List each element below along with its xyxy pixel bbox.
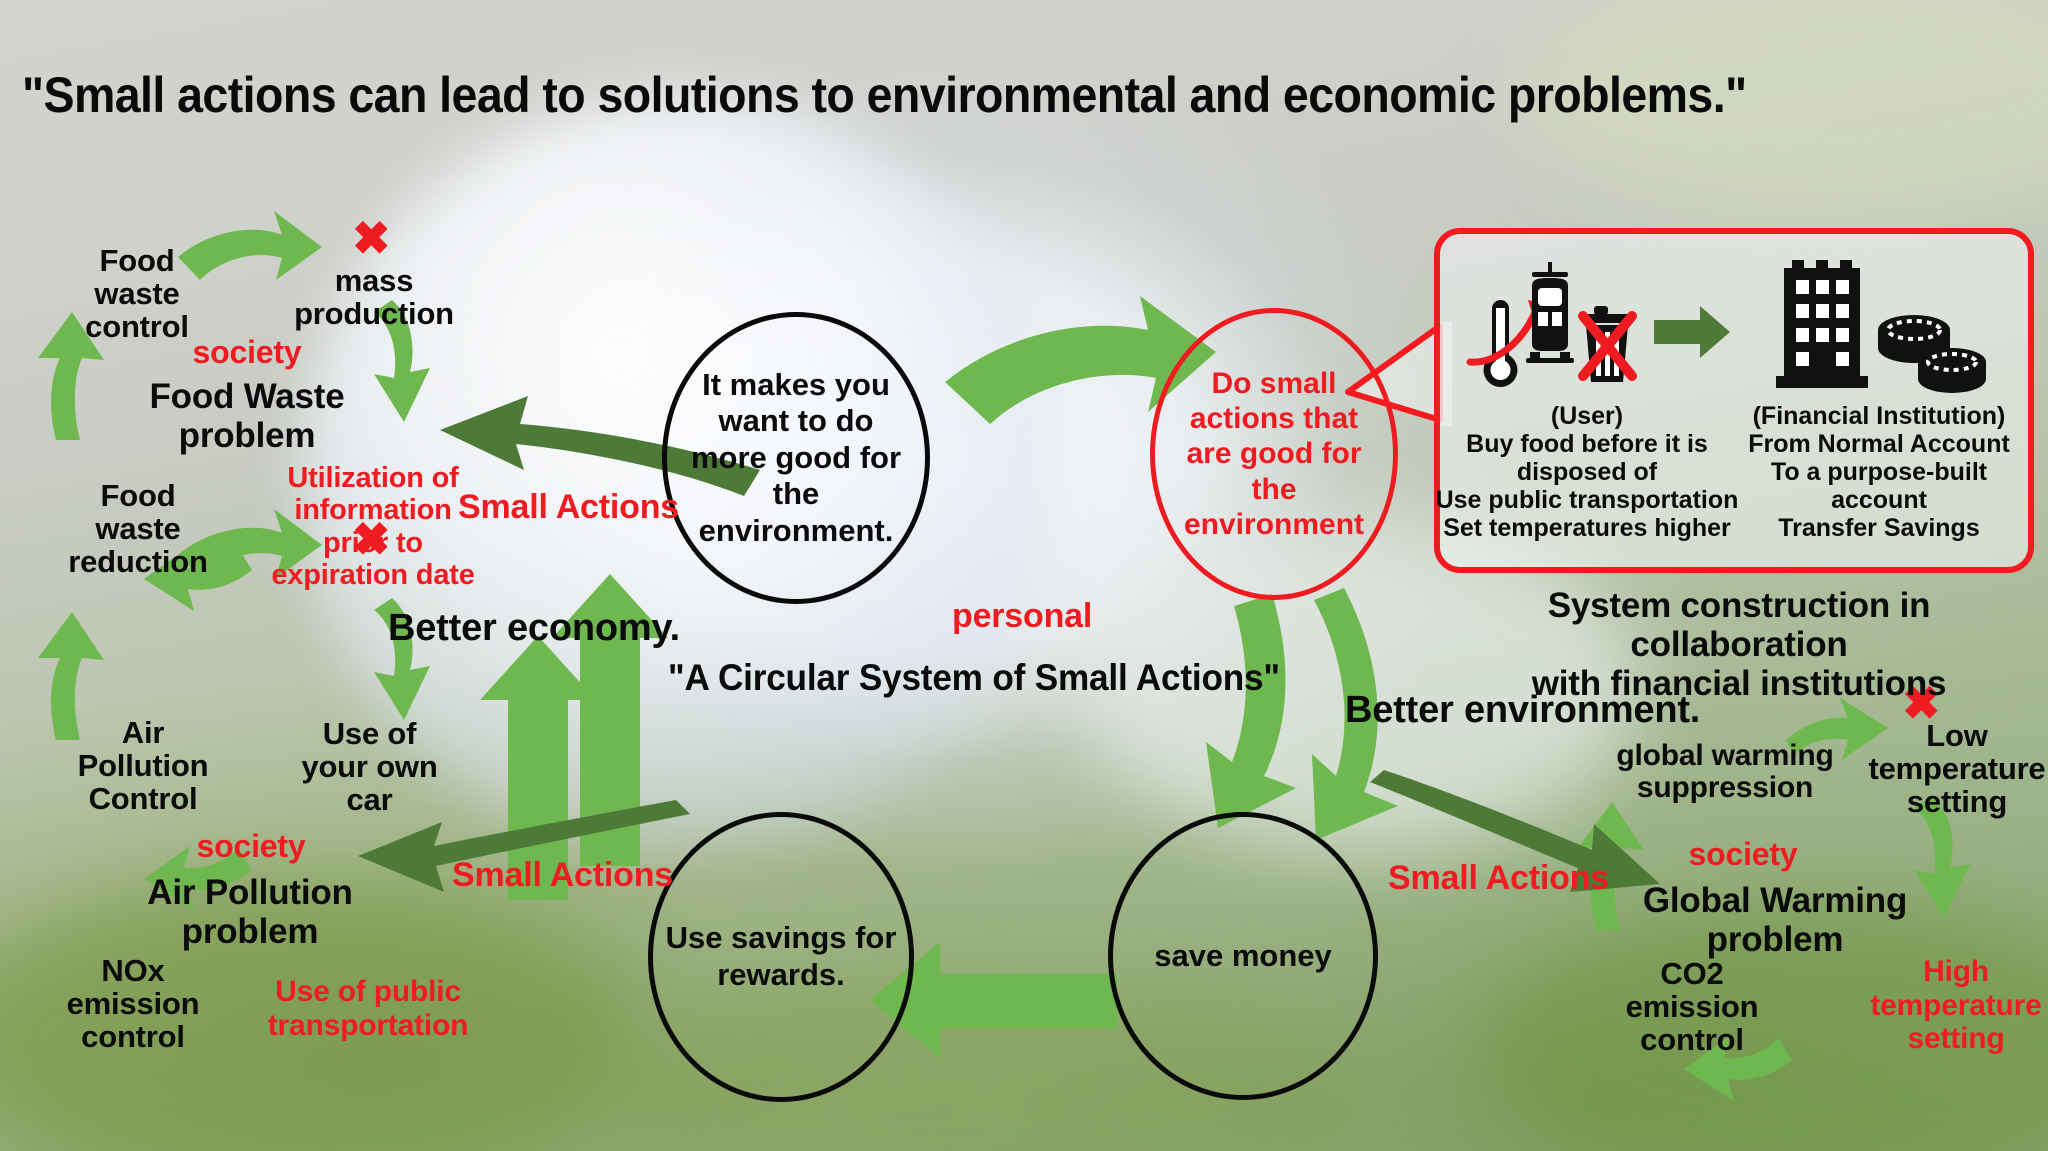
callout-box: (User) Buy food before it is disposed of…	[1434, 228, 2034, 573]
node-use-savings-label: Use savings for rewards.	[653, 920, 909, 993]
global-warming-bottom-right-label: High temperature setting	[1852, 955, 2048, 1056]
air-pollution-society-label: society	[166, 830, 336, 864]
trash-crossed-out-icon	[1582, 306, 1632, 382]
global-warming-top-left-label: global warming suppression	[1570, 740, 1880, 804]
node-it-makes-you[interactable]: It makes you want to do more good for th…	[662, 312, 930, 604]
air-pollution-bottom-left-label: NOx emission control	[42, 955, 224, 1054]
global-warming-top-right-label: Low temperature setting	[1862, 720, 2048, 819]
callout-footer-note: System construction in collaboration wit…	[1442, 586, 2036, 704]
coins-icon	[1878, 315, 1986, 393]
node-use-savings[interactable]: Use savings for rewards.	[648, 812, 914, 1102]
callout-institution-column: (Financial Institution) From Normal Acco…	[1734, 234, 2028, 567]
node-it-makes-you-label: It makes you want to do more good for th…	[667, 367, 925, 550]
callout-institution-text: (Financial Institution) From Normal Acco…	[1728, 402, 2030, 542]
node-do-small-actions-label: Do small actions that are good for the e…	[1155, 366, 1393, 543]
global-warming-bottom-left-label: CO2 emission control	[1602, 958, 1782, 1057]
small-actions-label-bottom-right: Small Actions	[1388, 860, 1609, 896]
air-pollution-bottom-right-label: Use of public transportation	[252, 975, 484, 1042]
green-arrow-right-icon	[1654, 306, 1730, 358]
node-do-small-actions[interactable]: Do small actions that are good for the e…	[1150, 308, 1398, 600]
air-pollution-x-icon: ✖	[352, 516, 391, 562]
callout-user-column: (User) Buy food before it is disposed of…	[1440, 234, 1734, 567]
air-pollution-problem-title: Air Pollution problem	[100, 874, 400, 951]
small-actions-label-top-left: Small Actions	[458, 489, 679, 525]
food-waste-x-icon: ✖	[352, 215, 391, 261]
train-icon	[1526, 262, 1574, 363]
circular-system-label: "A Circular System of Small Actions"	[668, 658, 1280, 697]
food-waste-society-label: society	[162, 336, 332, 370]
air-pollution-top-right-label: Use of your own car	[272, 718, 467, 817]
air-pollution-top-left-label: Air Pollution Control	[62, 717, 224, 816]
global-warming-society-label: society	[1658, 838, 1828, 872]
small-actions-label-bottom-left: Small Actions	[452, 857, 673, 893]
food-waste-bottom-left-label: Food waste reduction	[48, 480, 228, 579]
food-waste-top-left-label: Food waste control	[62, 245, 212, 344]
food-waste-top-right-label: mass production	[268, 265, 480, 331]
node-save-money[interactable]: save money	[1108, 812, 1378, 1100]
personal-label: personal	[952, 598, 1092, 634]
infographic-canvas: .lg { fill: #6fb84f; } .dg { fill: #4e7a…	[0, 0, 2048, 1151]
bank-building-icon	[1776, 260, 1868, 388]
institution-icons-group	[1748, 252, 2008, 412]
callout-user-text: (User) Buy food before it is disposed of…	[1432, 402, 1742, 542]
food-waste-problem-title: Food Waste problem	[112, 378, 382, 455]
node-save-money-label: save money	[1144, 938, 1342, 975]
global-warming-problem-title: Global Warming problem	[1610, 882, 1940, 959]
user-icons-group	[1448, 252, 1738, 412]
better-economy-label: Better economy.	[388, 608, 680, 648]
page-title: "Small actions can lead to solutions to …	[22, 66, 1891, 124]
